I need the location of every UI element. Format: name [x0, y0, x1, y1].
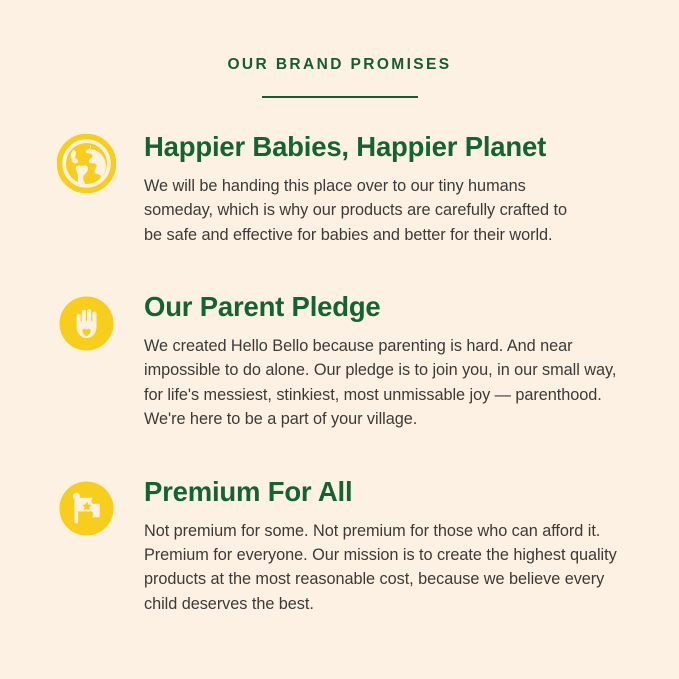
- promise-content: Happier Babies, Happier Planet We will b…: [144, 131, 627, 247]
- brand-promises-page: OUR BRAND PROMISES Happier Babies, Happi…: [0, 0, 679, 679]
- promise-title: Premium For All: [144, 477, 627, 508]
- promise-text: We created Hello Bello because parenting…: [144, 334, 627, 432]
- globe-icon: [57, 134, 116, 193]
- list-item: Happier Babies, Happier Planet We will b…: [57, 131, 627, 247]
- promise-title: Happier Babies, Happier Planet: [144, 132, 627, 163]
- title-divider-wrap: [0, 96, 679, 98]
- promise-content: Premium For All Not premium for some. No…: [144, 476, 627, 617]
- page-title: OUR BRAND PROMISES: [0, 56, 679, 73]
- promise-text: Not premium for some. Not premium for th…: [144, 519, 627, 617]
- list-item: Premium For All Not premium for some. No…: [57, 476, 627, 617]
- promise-list: Happier Babies, Happier Planet We will b…: [0, 131, 679, 616]
- flag-star-icon: [57, 479, 116, 538]
- promise-content: Our Parent Pledge We created Hello Bello…: [144, 291, 627, 432]
- promise-title: Our Parent Pledge: [144, 292, 627, 323]
- promise-text: We will be handing this place over to ou…: [144, 174, 587, 247]
- hand-heart-icon: [57, 294, 116, 353]
- list-item: Our Parent Pledge We created Hello Bello…: [57, 291, 627, 432]
- page-header: OUR BRAND PROMISES: [0, 0, 679, 98]
- title-divider: [262, 96, 418, 98]
